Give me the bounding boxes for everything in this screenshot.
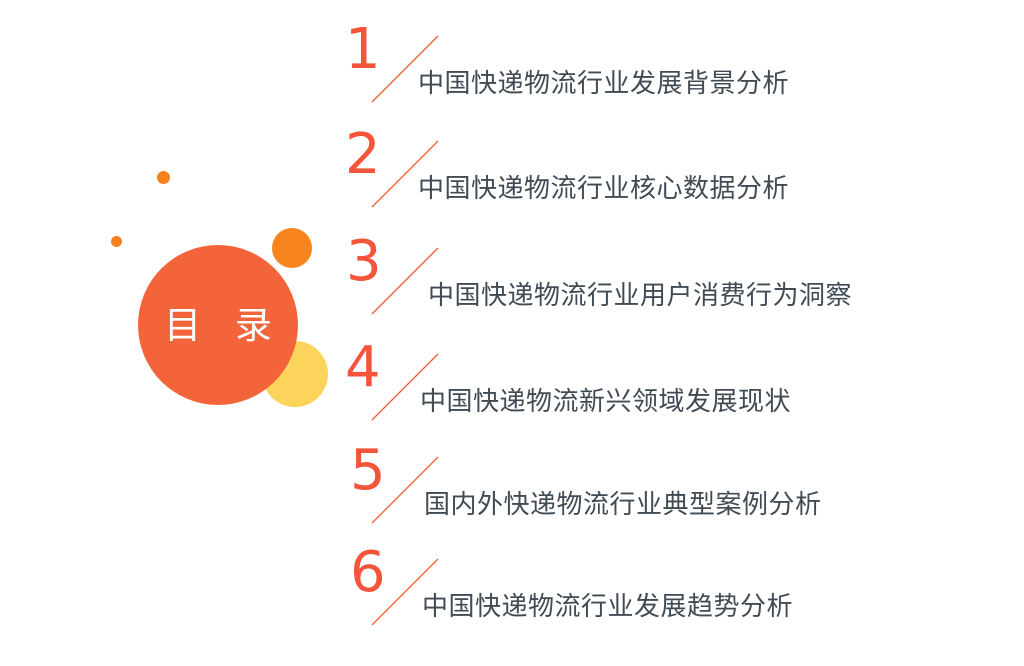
decorative-dot-lower	[111, 236, 122, 247]
toc-label-5: 国内外快递物流行业典型案例分析	[424, 489, 822, 523]
toc-list: 1 中国快递物流行业发展背景分析 2 中国快递物流行业核心数据分析 3 中国快递…	[340, 0, 1024, 666]
toc-item-4[interactable]: 4 中国快递物流新兴领域发展现状	[340, 340, 1024, 448]
decorative-circle-orange	[272, 228, 312, 268]
toc-label-6: 中国快递物流行业发展趋势分析	[422, 591, 793, 625]
decorative-dot-upper	[157, 171, 170, 184]
toc-title-badge: 目 录	[138, 245, 298, 405]
toc-item-6[interactable]: 6 中国快递物流行业发展趋势分析	[340, 545, 1024, 653]
toc-label-1: 中国快递物流行业发展背景分析	[418, 68, 789, 102]
toc-item-3[interactable]: 3 中国快递物流行业用户消费行为洞察	[340, 234, 1024, 342]
toc-number-4: 4	[345, 340, 381, 396]
toc-number-6: 6	[350, 545, 386, 601]
toc-label-3: 中国快递物流行业用户消费行为洞察	[428, 280, 852, 314]
toc-number-2: 2	[345, 127, 381, 183]
toc-number-3: 3	[346, 234, 382, 290]
page-title: 目 录	[153, 307, 283, 344]
toc-label-4: 中国快递物流新兴领域发展现状	[420, 386, 791, 420]
toc-item-1[interactable]: 1 中国快递物流行业发展背景分析	[340, 22, 1024, 130]
toc-item-2[interactable]: 2 中国快递物流行业核心数据分析	[340, 127, 1024, 235]
toc-label-2: 中国快递物流行业核心数据分析	[418, 173, 789, 207]
toc-number-5: 5	[350, 443, 386, 499]
slide-canvas: 目 录 1 中国快递物流行业发展背景分析 2 中国快递物流行业核心数据分析 3 …	[0, 0, 1024, 666]
toc-number-1: 1	[345, 22, 381, 78]
toc-item-5[interactable]: 5 国内外快递物流行业典型案例分析	[340, 443, 1024, 551]
